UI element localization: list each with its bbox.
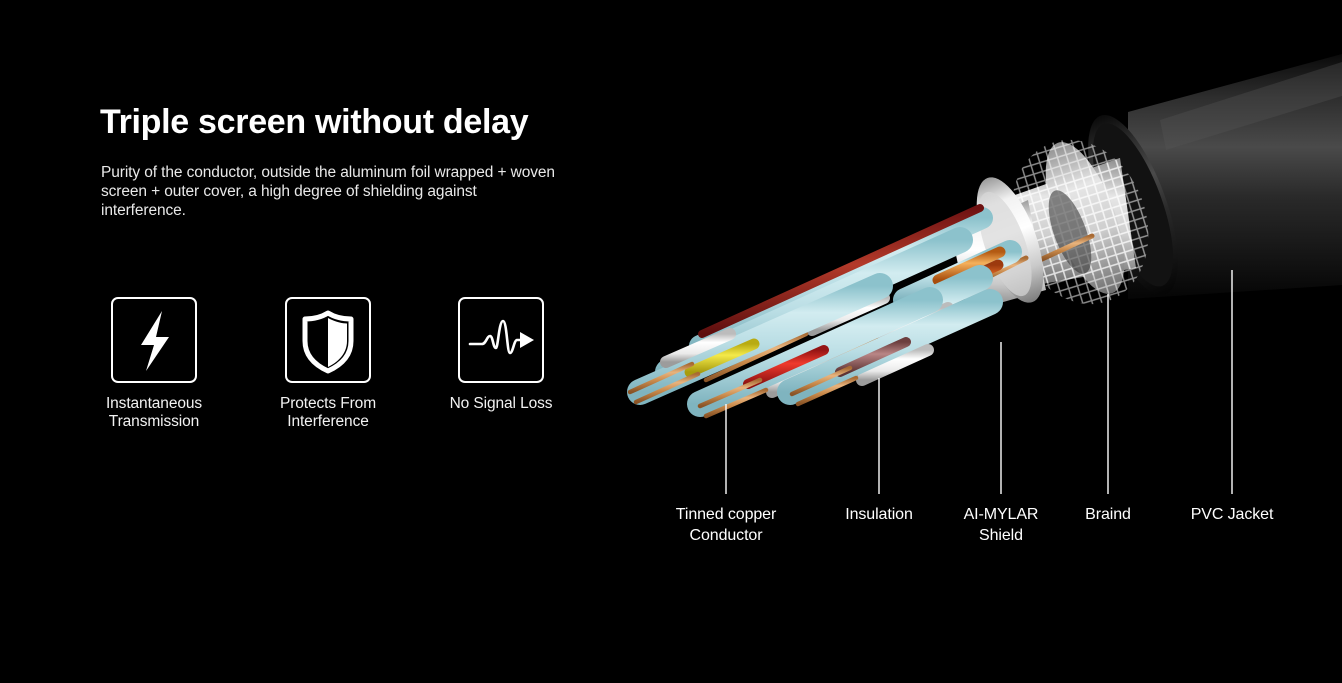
callout-label-ai-mylar-shield: AI-MYLAR Shield: [941, 504, 1061, 546]
callout-label-insulation: Insulation: [809, 504, 949, 525]
insulated-wire-pairs: [630, 208, 1010, 416]
callout-label-tinned-copper-conductor: Tinned copper Conductor: [636, 504, 816, 546]
callout-label-pvc-jacket: PVC Jacket: [1167, 504, 1297, 525]
cable-cutaway-illustration: [0, 0, 1342, 683]
product-infographic: Triple screen without delay Purity of th…: [0, 0, 1342, 683]
callout-label-braind: Braind: [1048, 504, 1168, 525]
